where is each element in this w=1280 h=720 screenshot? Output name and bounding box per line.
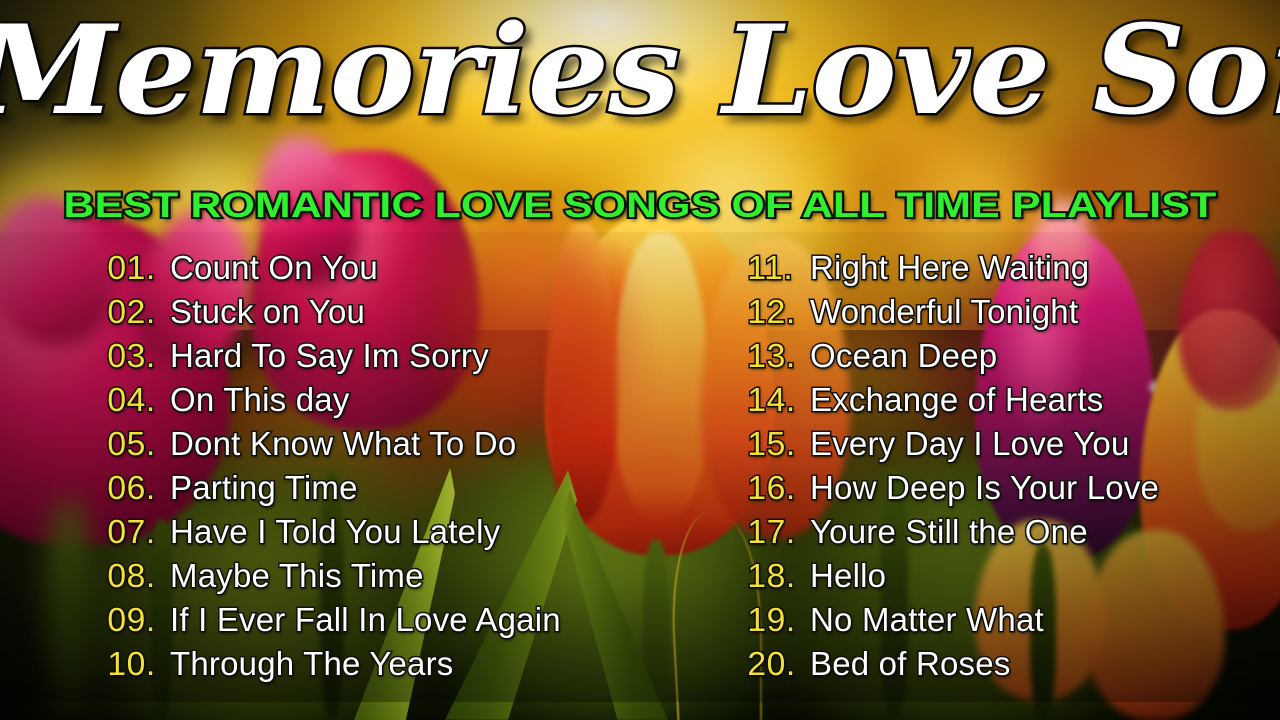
playlist-item[interactable]: 18. Hello <box>748 557 1159 601</box>
track-number: 13. <box>747 337 810 375</box>
page-title: Memories Love Songs <box>0 6 1280 136</box>
track-number: 14. <box>747 381 810 419</box>
track-title: Bed of Roses <box>810 645 1011 683</box>
track-title: Hard To Say Im Sorry <box>170 337 489 375</box>
playlist-item[interactable]: 12. Wonderful Tonight <box>748 293 1159 337</box>
track-title: Youre Still the One <box>810 513 1088 551</box>
playlist-item[interactable]: 19. No Matter What <box>748 601 1159 645</box>
track-number: 08. <box>107 557 170 595</box>
subtitle: BEST ROMANTIC LOVE SONGS OF ALL TIME PLA… <box>0 186 1280 226</box>
track-number: 18. <box>747 557 810 595</box>
playlist-item[interactable]: 07. Have I Told You Lately <box>108 513 561 557</box>
track-title: Ocean Deep <box>810 337 997 375</box>
playlist-item[interactable]: 05. Dont Know What To Do <box>108 425 561 469</box>
track-title: How Deep Is Your Love <box>810 469 1159 507</box>
track-title: Wonderful Tonight <box>810 293 1078 331</box>
playlist-item[interactable]: 03. Hard To Say Im Sorry <box>108 337 561 381</box>
track-title: If I Ever Fall In Love Again <box>170 601 561 639</box>
track-number: 17. <box>747 513 810 551</box>
track-number: 06. <box>107 469 170 507</box>
playlist-item[interactable]: 17. Youre Still the One <box>748 513 1159 557</box>
track-title: Every Day I Love You <box>810 425 1130 463</box>
playlist-item[interactable]: 11. Right Here Waiting <box>748 249 1159 293</box>
track-number: 11. <box>747 249 810 287</box>
track-number: 12. <box>747 293 810 331</box>
track-number: 10. <box>107 645 170 683</box>
playlist-item[interactable]: 02. Stuck on You <box>108 293 561 337</box>
track-title: Hello <box>810 557 886 595</box>
track-title: Dont Know What To Do <box>170 425 516 463</box>
playlist-item[interactable]: 04. On This day <box>108 381 561 425</box>
track-title: No Matter What <box>810 601 1044 639</box>
track-number: 20. <box>747 645 810 683</box>
track-title: Have I Told You Lately <box>170 513 500 551</box>
track-number: 01. <box>107 249 170 287</box>
playlist-item[interactable]: 08. Maybe This Time <box>108 557 561 601</box>
playlist-item[interactable]: 14. Exchange of Hearts <box>748 381 1159 425</box>
track-title: Count On You <box>170 249 378 287</box>
track-title: Exchange of Hearts <box>810 381 1103 419</box>
track-title: Through The Years <box>170 645 454 683</box>
track-number: 05. <box>107 425 170 463</box>
track-number: 03. <box>107 337 170 375</box>
track-title: Parting Time <box>170 469 358 507</box>
track-number: 09. <box>107 601 170 639</box>
track-number: 15. <box>747 425 810 463</box>
playlist-item[interactable]: 10. Through The Years <box>108 645 561 689</box>
playlist-item[interactable]: 16. How Deep Is Your Love <box>748 469 1159 513</box>
playlist-item[interactable]: 20. Bed of Roses <box>748 645 1159 689</box>
track-number: 07. <box>107 513 170 551</box>
playlist-item[interactable]: 15. Every Day I Love You <box>748 425 1159 469</box>
playlist-item[interactable]: 13. Ocean Deep <box>748 337 1159 381</box>
track-title: Right Here Waiting <box>810 249 1089 287</box>
track-number: 19. <box>747 601 810 639</box>
track-title: Stuck on You <box>170 293 365 331</box>
track-title: On This day <box>170 381 350 419</box>
playlist-column-left: 01. Count On You 02. Stuck on You 03. Ha… <box>108 249 561 689</box>
text-overlay: Memories Love Songs BEST ROMANTIC LOVE S… <box>0 0 1280 720</box>
thumbnail-canvas: Memories Love Songs BEST ROMANTIC LOVE S… <box>0 0 1280 720</box>
playlist-column-right: 11. Right Here Waiting 12. Wonderful Ton… <box>748 249 1159 689</box>
playlist-item[interactable]: 06. Parting Time <box>108 469 561 513</box>
track-number: 02. <box>107 293 170 331</box>
playlist-item[interactable]: 01. Count On You <box>108 249 561 293</box>
track-title: Maybe This Time <box>170 557 424 595</box>
track-number: 16. <box>747 469 810 507</box>
track-number: 04. <box>107 381 170 419</box>
playlist-item[interactable]: 09. If I Ever Fall In Love Again <box>108 601 561 645</box>
